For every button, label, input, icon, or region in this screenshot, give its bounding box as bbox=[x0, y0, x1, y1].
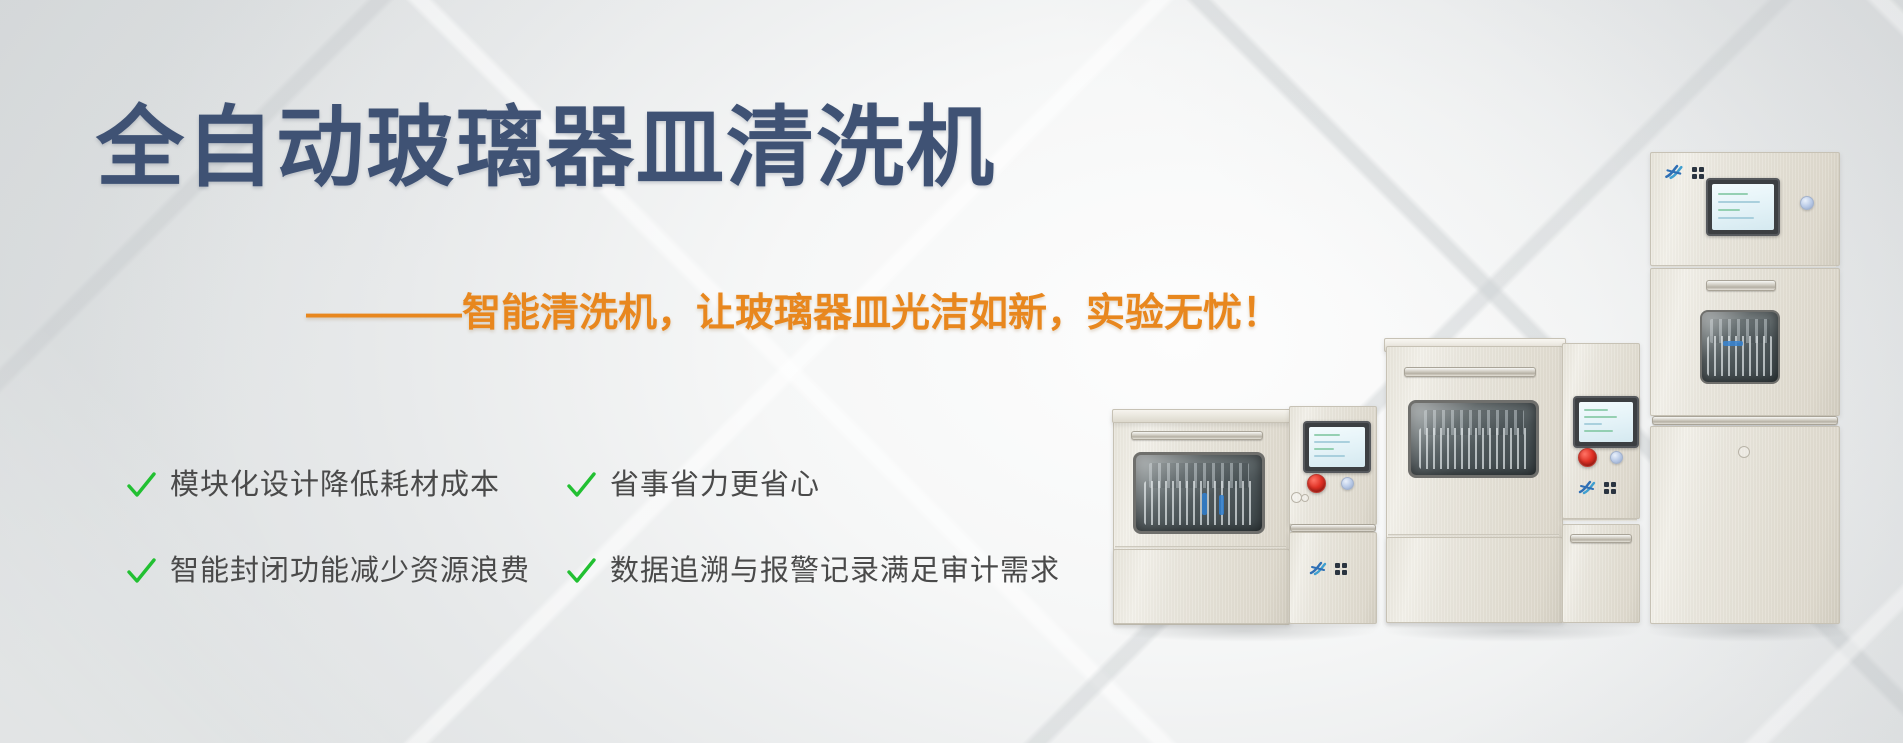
feature-list: 模块化设计降低耗材成本 省事省力更省心 智能封闭功能减少资源浪费 bbox=[126, 470, 1076, 642]
check-icon bbox=[126, 471, 156, 501]
feature-row: 模块化设计降低耗材成本 省事省力更省心 bbox=[126, 470, 1076, 500]
banner-subtitle: ————智能清洗机，让玻璃器皿光洁如新，实验无忧！ bbox=[306, 294, 1281, 333]
feature-label: 数据追溯与报警记录满足审计需求 bbox=[610, 557, 1060, 586]
feature-row: 智能封闭功能减少资源浪费 数据追溯与报警记录满足审计需求 bbox=[126, 556, 1076, 586]
feature-label: 模块化设计降低耗材成本 bbox=[170, 471, 500, 500]
feature-label: 省事省力更省心 bbox=[610, 471, 820, 500]
check-icon bbox=[126, 557, 156, 587]
feature-item: 省事省力更省心 bbox=[566, 470, 820, 500]
product-banner: 全自动玻璃器皿清洗机 ————智能清洗机，让玻璃器皿光洁如新，实验无忧！ 模块化… bbox=[0, 0, 1903, 743]
check-icon bbox=[566, 557, 596, 587]
feature-item: 智能封闭功能减少资源浪费 bbox=[126, 556, 566, 586]
feature-item: 数据追溯与报警记录满足审计需求 bbox=[566, 556, 1060, 586]
feature-item: 模块化设计降低耗材成本 bbox=[126, 470, 566, 500]
check-icon bbox=[566, 471, 596, 501]
feature-label: 智能封闭功能减少资源浪费 bbox=[170, 557, 530, 586]
banner-title: 全自动玻璃器皿清洗机 bbox=[96, 104, 996, 192]
